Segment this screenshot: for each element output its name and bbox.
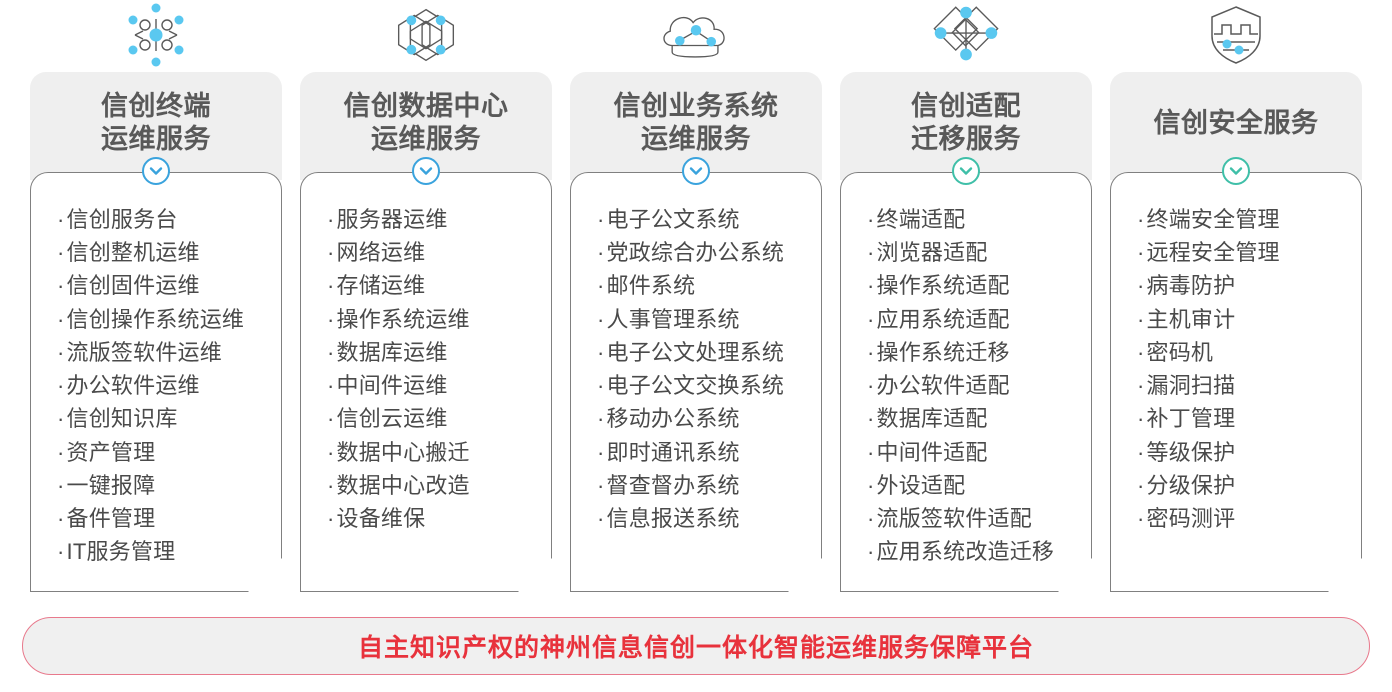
bullet-icon: · bbox=[1137, 506, 1145, 531]
bullet-icon: · bbox=[57, 307, 65, 332]
list-item-label: 操作系统运维 bbox=[337, 307, 470, 332]
list-item-label: 信创云运维 bbox=[337, 406, 448, 431]
list-item-label: 办公软件适配 bbox=[877, 373, 1010, 398]
list-item[interactable]: ·终端安全管理 bbox=[1137, 203, 1361, 236]
bullet-icon: · bbox=[597, 373, 605, 398]
list-item-label: 邮件系统 bbox=[607, 273, 696, 298]
list-item-label: 电子公文系统 bbox=[607, 207, 740, 232]
bullet-icon: · bbox=[597, 240, 605, 265]
list-item[interactable]: ·一键报障 bbox=[57, 469, 281, 502]
bullet-icon: · bbox=[867, 273, 875, 298]
list-item-label: 操作系统适配 bbox=[877, 273, 1010, 298]
list-item[interactable]: ·操作系统迁移 bbox=[867, 336, 1091, 369]
bullet-icon: · bbox=[867, 440, 875, 465]
list-item[interactable]: ·等级保护 bbox=[1137, 436, 1361, 469]
list-item-label: 信息报送系统 bbox=[607, 506, 740, 531]
list-item-label: 设备维保 bbox=[337, 506, 426, 531]
list-item-label: 电子公文交换系统 bbox=[607, 373, 785, 398]
list-item[interactable]: ·即时通讯系统 bbox=[597, 436, 821, 469]
bullet-icon: · bbox=[597, 406, 605, 431]
service-column: 信创业务系统 运维服务·电子公文系统·党政综合办公系统·邮件系统·人事管理系统·… bbox=[570, 0, 822, 600]
list-item-label: 浏览器适配 bbox=[877, 240, 988, 265]
column-title: 信创安全服务 bbox=[1154, 107, 1319, 146]
bullet-icon: · bbox=[1137, 473, 1145, 498]
list-item[interactable]: ·应用系统适配 bbox=[867, 303, 1091, 336]
chevron-down-icon[interactable] bbox=[1222, 157, 1250, 185]
list-item-label: IT服务管理 bbox=[67, 539, 176, 564]
bullet-icon: · bbox=[1137, 373, 1145, 398]
list-item-label: 流版签软件运维 bbox=[67, 340, 222, 365]
bullet-icon: · bbox=[327, 340, 335, 365]
hexagon-cluster-icon bbox=[385, 2, 467, 68]
list-item[interactable]: ·远程安全管理 bbox=[1137, 236, 1361, 269]
card-chamfer-edge bbox=[1324, 562, 1360, 592]
list-item[interactable]: ·病毒防护 bbox=[1137, 269, 1361, 302]
bullet-icon: · bbox=[867, 373, 875, 398]
list-item[interactable]: ·IT服务管理 bbox=[57, 535, 281, 568]
list-item-label: 数据库运维 bbox=[337, 340, 448, 365]
bullet-icon: · bbox=[867, 506, 875, 531]
bottom-banner: 自主知识产权的神州信息信创一体化智能运维服务保障平台 bbox=[22, 617, 1370, 675]
list-item-label: 即时通讯系统 bbox=[607, 440, 740, 465]
card-chamfer-edge bbox=[514, 562, 550, 592]
bullet-icon: · bbox=[57, 440, 65, 465]
list-item[interactable]: ·信创操作系统运维 bbox=[57, 303, 281, 336]
list-item[interactable]: ·电子公文交换系统 bbox=[597, 369, 821, 402]
list-item[interactable]: ·设备维保 bbox=[327, 502, 551, 535]
bullet-icon: · bbox=[867, 240, 875, 265]
list-item-label: 应用系统改造迁移 bbox=[877, 539, 1055, 564]
bullet-icon: · bbox=[1137, 240, 1145, 265]
diamond-nodes-icon bbox=[925, 2, 1007, 68]
list-item[interactable]: ·密码机 bbox=[1137, 336, 1361, 369]
bullet-icon: · bbox=[327, 473, 335, 498]
list-item-label: 中间件运维 bbox=[337, 373, 448, 398]
list-item[interactable]: ·人事管理系统 bbox=[597, 303, 821, 336]
list-item[interactable]: ·漏洞扫描 bbox=[1137, 369, 1361, 402]
chevron-down-icon[interactable] bbox=[952, 157, 980, 185]
list-item-label: 分级保护 bbox=[1147, 473, 1236, 498]
service-column: 信创终端 运维服务·信创服务台·信创整机运维·信创固件运维·信创操作系统运维·流… bbox=[30, 0, 282, 600]
list-item[interactable]: ·移动办公系统 bbox=[597, 402, 821, 435]
list-item-label: 终端安全管理 bbox=[1147, 207, 1280, 232]
list-item[interactable]: ·网络运维 bbox=[327, 236, 551, 269]
list-item[interactable]: ·信创整机运维 bbox=[57, 236, 281, 269]
list-item-label: 数据中心搬迁 bbox=[337, 440, 470, 465]
list-item-label: 移动办公系统 bbox=[607, 406, 740, 431]
cloud-network-icon bbox=[655, 2, 737, 68]
list-item[interactable]: ·信创服务台 bbox=[57, 203, 281, 236]
infographic-board: 信创终端 运维服务·信创服务台·信创整机运维·信创固件运维·信创操作系统运维·流… bbox=[0, 0, 1392, 692]
list-item-label: 一键报障 bbox=[67, 473, 156, 498]
bullet-icon: · bbox=[1137, 406, 1145, 431]
list-item[interactable]: ·应用系统改造迁移 bbox=[867, 535, 1091, 568]
bullet-icon: · bbox=[597, 440, 605, 465]
list-item[interactable]: ·电子公文系统 bbox=[597, 203, 821, 236]
list-item[interactable]: ·操作系统运维 bbox=[327, 303, 551, 336]
list-item-label: 病毒防护 bbox=[1147, 273, 1236, 298]
list-item-label: 密码机 bbox=[1147, 340, 1214, 365]
column-list: ·终端安全管理·远程安全管理·病毒防护·主机审计·密码机·漏洞扫描·补丁管理·等… bbox=[1111, 173, 1361, 535]
list-item[interactable]: ·中间件运维 bbox=[327, 369, 551, 402]
list-item-label: 应用系统适配 bbox=[877, 307, 1010, 332]
list-item-label: 信创知识库 bbox=[67, 406, 178, 431]
list-item-label: 补丁管理 bbox=[1147, 406, 1236, 431]
bullet-icon: · bbox=[597, 273, 605, 298]
column-list-card: ·信创服务台·信创整机运维·信创固件运维·信创操作系统运维·流版签软件运维·办公… bbox=[30, 172, 282, 592]
list-item[interactable]: ·信息报送系统 bbox=[597, 502, 821, 535]
card-chamfer-edge bbox=[784, 562, 820, 592]
list-item[interactable]: ·办公软件运维 bbox=[57, 369, 281, 402]
bullet-icon: · bbox=[57, 240, 65, 265]
chevron-down-icon[interactable] bbox=[142, 157, 170, 185]
bullet-icon: · bbox=[57, 273, 65, 298]
list-item-label: 信创固件运维 bbox=[67, 273, 200, 298]
list-item[interactable]: ·数据库适配 bbox=[867, 402, 1091, 435]
list-item[interactable]: ·浏览器适配 bbox=[867, 236, 1091, 269]
column-list: ·电子公文系统·党政综合办公系统·邮件系统·人事管理系统·电子公文处理系统·电子… bbox=[571, 173, 821, 535]
list-item[interactable]: ·党政综合办公系统 bbox=[597, 236, 821, 269]
list-item[interactable]: ·补丁管理 bbox=[1137, 402, 1361, 435]
bullet-icon: · bbox=[57, 506, 65, 531]
list-item[interactable]: ·督查督办系统 bbox=[597, 469, 821, 502]
list-item[interactable]: ·备件管理 bbox=[57, 502, 281, 535]
list-item-label: 服务器运维 bbox=[337, 207, 448, 232]
list-item[interactable]: ·分级保护 bbox=[1137, 469, 1361, 502]
list-item[interactable]: ·数据中心改造 bbox=[327, 469, 551, 502]
column-list: ·服务器运维·网络运维·存储运维·操作系统运维·数据库运维·中间件运维·信创云运… bbox=[301, 173, 551, 535]
list-item-label: 等级保护 bbox=[1147, 440, 1236, 465]
list-item[interactable]: ·资产管理 bbox=[57, 436, 281, 469]
bullet-icon: · bbox=[57, 207, 65, 232]
chevron-down-icon[interactable] bbox=[682, 157, 710, 185]
bullet-icon: · bbox=[1137, 273, 1145, 298]
bullet-icon: · bbox=[57, 539, 65, 564]
bullet-icon: · bbox=[597, 207, 605, 232]
column-title: 信创适配 迁移服务 bbox=[911, 90, 1021, 162]
bullet-icon: · bbox=[57, 373, 65, 398]
list-item[interactable]: ·信创知识库 bbox=[57, 402, 281, 435]
column-list-card: ·终端安全管理·远程安全管理·病毒防护·主机审计·密码机·漏洞扫描·补丁管理·等… bbox=[1110, 172, 1362, 592]
bullet-icon: · bbox=[327, 240, 335, 265]
bullet-icon: · bbox=[867, 539, 875, 564]
bullet-icon: · bbox=[327, 207, 335, 232]
service-column: 信创适配 迁移服务·终端适配·浏览器适配·操作系统适配·应用系统适配·操作系统迁… bbox=[840, 0, 1092, 600]
list-item-label: 外设适配 bbox=[877, 473, 966, 498]
bullet-icon: · bbox=[597, 340, 605, 365]
banner-text: 自主知识产权的神州信息信创一体化智能运维服务保障平台 bbox=[358, 628, 1034, 664]
list-item-label: 存储运维 bbox=[337, 273, 426, 298]
bullet-icon: · bbox=[327, 406, 335, 431]
list-item-label: 资产管理 bbox=[67, 440, 156, 465]
list-item-label: 主机审计 bbox=[1147, 307, 1236, 332]
bullet-icon: · bbox=[327, 373, 335, 398]
list-item-label: 中间件适配 bbox=[877, 440, 988, 465]
list-item-label: 密码测评 bbox=[1147, 506, 1236, 531]
list-item-label: 操作系统迁移 bbox=[877, 340, 1010, 365]
column-list: ·终端适配·浏览器适配·操作系统适配·应用系统适配·操作系统迁移·办公软件适配·… bbox=[841, 173, 1091, 568]
column-title: 信创终端 运维服务 bbox=[101, 90, 211, 162]
list-item-label: 人事管理系统 bbox=[607, 307, 740, 332]
list-item-label: 党政综合办公系统 bbox=[607, 240, 785, 265]
list-item-label: 漏洞扫描 bbox=[1147, 373, 1236, 398]
bullet-icon: · bbox=[327, 273, 335, 298]
radial-network-icon bbox=[115, 2, 197, 68]
list-item-label: 网络运维 bbox=[337, 240, 426, 265]
list-item-label: 备件管理 bbox=[67, 506, 156, 531]
bullet-icon: · bbox=[867, 307, 875, 332]
list-item[interactable]: ·数据中心搬迁 bbox=[327, 436, 551, 469]
list-item-label: 数据库适配 bbox=[877, 406, 988, 431]
list-item-label: 信创整机运维 bbox=[67, 240, 200, 265]
list-item[interactable]: ·终端适配 bbox=[867, 203, 1091, 236]
bullet-icon: · bbox=[867, 473, 875, 498]
bullet-icon: · bbox=[597, 307, 605, 332]
list-item[interactable]: ·数据库运维 bbox=[327, 336, 551, 369]
bullet-icon: · bbox=[1137, 340, 1145, 365]
list-item[interactable]: ·服务器运维 bbox=[327, 203, 551, 236]
chevron-down-icon[interactable] bbox=[412, 157, 440, 185]
bullet-icon: · bbox=[57, 473, 65, 498]
bullet-icon: · bbox=[597, 506, 605, 531]
bullet-icon: · bbox=[867, 406, 875, 431]
bullet-icon: · bbox=[1137, 207, 1145, 232]
list-item-label: 信创服务台 bbox=[67, 207, 178, 232]
list-item[interactable]: ·流版签软件运维 bbox=[57, 336, 281, 369]
list-item[interactable]: ·信创固件运维 bbox=[57, 269, 281, 302]
bullet-icon: · bbox=[327, 506, 335, 531]
list-item-label: 电子公文处理系统 bbox=[607, 340, 785, 365]
column-title: 信创数据中心 运维服务 bbox=[344, 90, 509, 162]
column-list-card: ·终端适配·浏览器适配·操作系统适配·应用系统适配·操作系统迁移·办公软件适配·… bbox=[840, 172, 1092, 592]
bullet-icon: · bbox=[327, 307, 335, 332]
list-item[interactable]: ·流版签软件适配 bbox=[867, 502, 1091, 535]
list-item-label: 远程安全管理 bbox=[1147, 240, 1280, 265]
column-list-card: ·电子公文系统·党政综合办公系统·邮件系统·人事管理系统·电子公文处理系统·电子… bbox=[570, 172, 822, 592]
list-item[interactable]: ·操作系统适配 bbox=[867, 269, 1091, 302]
list-item-label: 数据中心改造 bbox=[337, 473, 470, 498]
bullet-icon: · bbox=[867, 340, 875, 365]
bullet-icon: · bbox=[327, 440, 335, 465]
bullet-icon: · bbox=[1137, 440, 1145, 465]
list-item[interactable]: ·电子公文处理系统 bbox=[597, 336, 821, 369]
column-list-card: ·服务器运维·网络运维·存储运维·操作系统运维·数据库运维·中间件运维·信创云运… bbox=[300, 172, 552, 592]
list-item-label: 流版签软件适配 bbox=[877, 506, 1032, 531]
list-item[interactable]: ·中间件适配 bbox=[867, 436, 1091, 469]
list-item[interactable]: ·信创云运维 bbox=[327, 402, 551, 435]
column-title: 信创业务系统 运维服务 bbox=[614, 90, 779, 162]
bullet-icon: · bbox=[867, 207, 875, 232]
list-item[interactable]: ·外设适配 bbox=[867, 469, 1091, 502]
bullet-icon: · bbox=[1137, 307, 1145, 332]
service-column: 信创安全服务·终端安全管理·远程安全管理·病毒防护·主机审计·密码机·漏洞扫描·… bbox=[1110, 0, 1362, 600]
list-item-label: 信创操作系统运维 bbox=[67, 307, 245, 332]
service-columns: 信创终端 运维服务·信创服务台·信创整机运维·信创固件运维·信创操作系统运维·流… bbox=[0, 0, 1392, 600]
list-item[interactable]: ·存储运维 bbox=[327, 269, 551, 302]
service-column: 信创数据中心 运维服务·服务器运维·网络运维·存储运维·操作系统运维·数据库运维… bbox=[300, 0, 552, 600]
list-item-label: 终端适配 bbox=[877, 207, 966, 232]
bullet-icon: · bbox=[57, 340, 65, 365]
list-item[interactable]: ·邮件系统 bbox=[597, 269, 821, 302]
list-item-label: 办公软件运维 bbox=[67, 373, 200, 398]
list-item-label: 督查督办系统 bbox=[607, 473, 740, 498]
list-item[interactable]: ·主机审计 bbox=[1137, 303, 1361, 336]
shield-circuit-icon bbox=[1195, 2, 1277, 68]
bullet-icon: · bbox=[597, 473, 605, 498]
column-list: ·信创服务台·信创整机运维·信创固件运维·信创操作系统运维·流版签软件运维·办公… bbox=[31, 173, 281, 568]
bullet-icon: · bbox=[57, 406, 65, 431]
list-item[interactable]: ·密码测评 bbox=[1137, 502, 1361, 535]
list-item[interactable]: ·办公软件适配 bbox=[867, 369, 1091, 402]
